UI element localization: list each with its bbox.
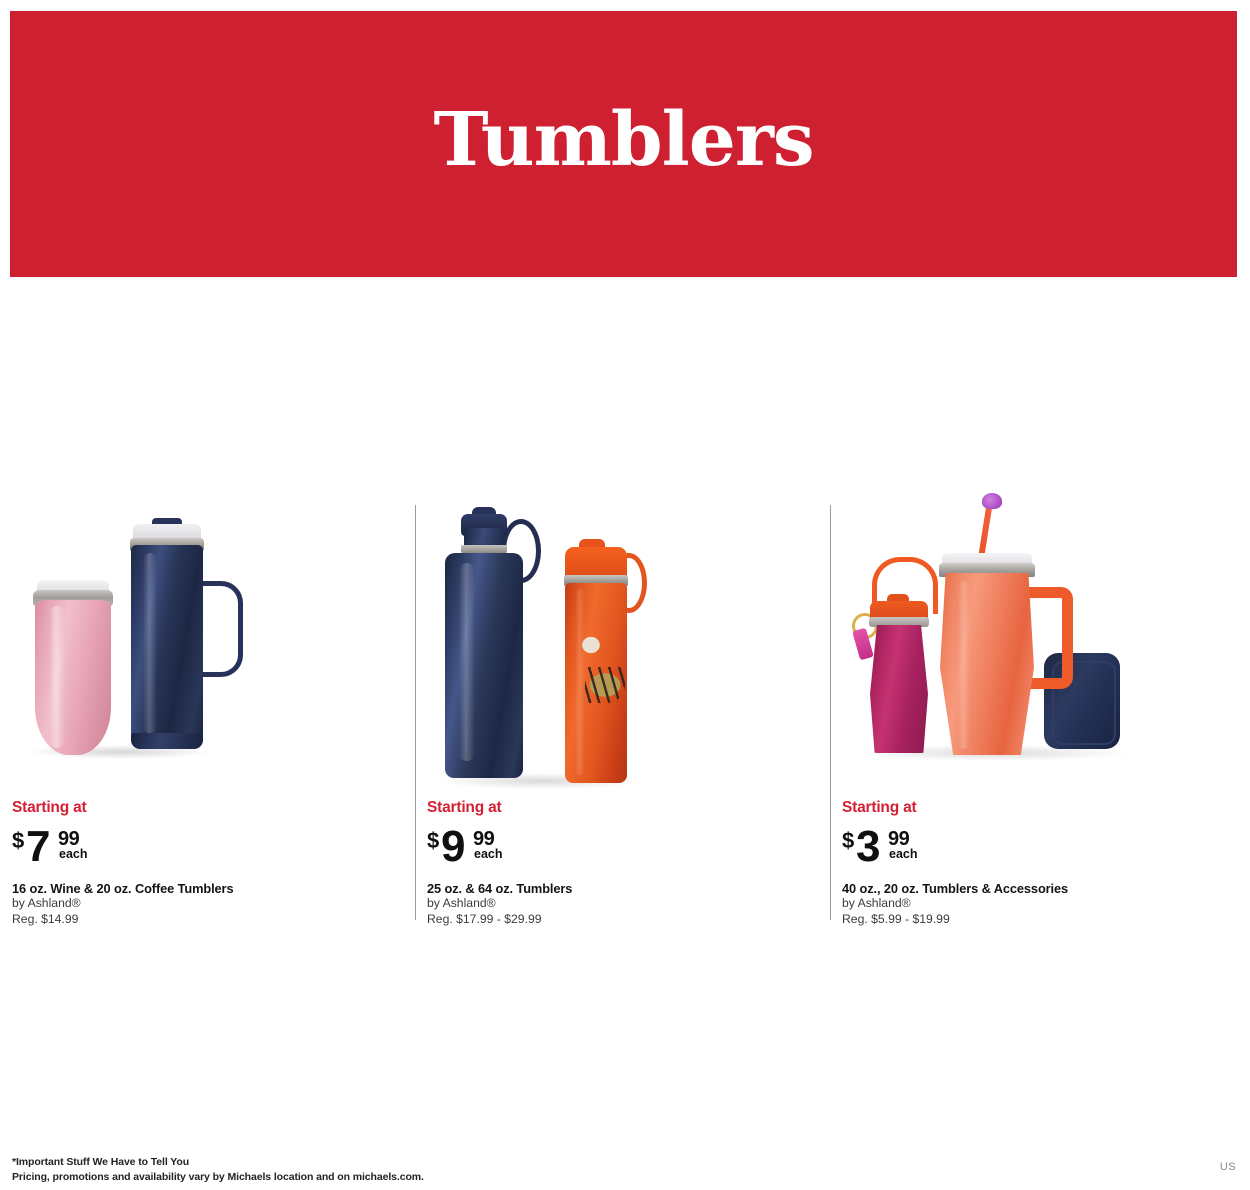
region-tag: US (1220, 1161, 1236, 1173)
pink-wine-tumbler (35, 600, 111, 755)
tiger-graphic (569, 623, 625, 709)
product-grid: Starting at $ 7 99 each 16 oz. Wine & 20… (0, 495, 1250, 935)
product-regular-price-2: Reg. $17.99 - $29.99 (427, 912, 822, 928)
price-whole-3: 3 (856, 825, 879, 869)
starting-at-label-1: Starting at (12, 800, 407, 816)
coffee-mug-base (131, 733, 203, 749)
starting-at-label-3: Starting at (842, 800, 1237, 816)
product-image-1 (0, 495, 415, 795)
bottle-steel-collar (461, 545, 507, 553)
page-title: Tumblers (434, 103, 814, 177)
product-brand-2: by Ashland® (427, 896, 822, 912)
product-info-2: Starting at $ 9 99 each 25 oz. & 64 oz. … (427, 800, 822, 928)
coffee-mug-handle (196, 581, 243, 677)
price-whole-1: 7 (26, 825, 49, 869)
price-block-3: $ 3 99 each (842, 828, 1237, 872)
price-cents-3: 99 (888, 829, 909, 849)
price-cents-1: 99 (58, 829, 79, 849)
price-whole-2: 9 (441, 825, 464, 869)
product-regular-price-1: Reg. $14.99 (12, 912, 407, 928)
orange-25oz-bottle (565, 583, 627, 783)
price-cents-2: 99 (473, 829, 494, 849)
product-name-3: 40 oz., 20 oz. Tumblers & Accessories (842, 881, 1237, 897)
product-name-1: 16 oz. Wine & 20 oz. Coffee Tumblers (12, 881, 407, 897)
product-brand-3: by Ashland® (842, 896, 1237, 912)
page-header-banner: Tumblers (10, 11, 1237, 277)
price-unit-2: each (474, 848, 503, 861)
gloss-highlight (143, 553, 157, 733)
product-info-3: Starting at $ 3 99 each 40 oz., 20 oz. T… (842, 800, 1237, 928)
navy-coffee-mug (131, 545, 203, 748)
price-unit-1: each (59, 848, 88, 861)
product-brand-1: by Ashland® (12, 896, 407, 912)
price-currency-3: $ (842, 830, 854, 852)
product-card-2[interactable]: Starting at $ 9 99 each 25 oz. & 64 oz. … (415, 495, 830, 935)
price-currency-1: $ (12, 830, 24, 852)
navy-64oz-bottle (445, 553, 523, 778)
berry-20oz-tumbler (870, 625, 928, 753)
product-card-3[interactable]: Starting at $ 3 99 each 40 oz., 20 oz. T… (830, 495, 1245, 935)
product-regular-price-3: Reg. $5.99 - $19.99 (842, 912, 1237, 928)
price-block-2: $ 9 99 each (427, 828, 822, 872)
straw-topper-charm (982, 493, 1002, 509)
product-image-2 (415, 495, 830, 795)
product-name-2: 25 oz. & 64 oz. Tumblers (427, 881, 822, 897)
disclaimer-body: Pricing, promotions and availability var… (12, 1170, 912, 1185)
price-unit-3: each (889, 848, 918, 861)
footer-disclaimer: *Important Stuff We Have to Tell You Pri… (12, 1155, 912, 1185)
starting-at-label-2: Starting at (427, 800, 822, 816)
gloss-highlight (49, 606, 65, 748)
disclaimer-heading: *Important Stuff We Have to Tell You (12, 1155, 912, 1170)
product-info-1: Starting at $ 7 99 each 16 oz. Wine & 20… (12, 800, 407, 928)
product-image-3 (830, 495, 1245, 795)
coral-40oz-tumbler (940, 573, 1034, 755)
gloss-highlight (958, 581, 970, 749)
gloss-highlight (459, 563, 475, 761)
product-card-1[interactable]: Starting at $ 7 99 each 16 oz. Wine & 20… (0, 495, 415, 935)
price-block-1: $ 7 99 each (12, 828, 407, 872)
price-currency-2: $ (427, 830, 439, 852)
